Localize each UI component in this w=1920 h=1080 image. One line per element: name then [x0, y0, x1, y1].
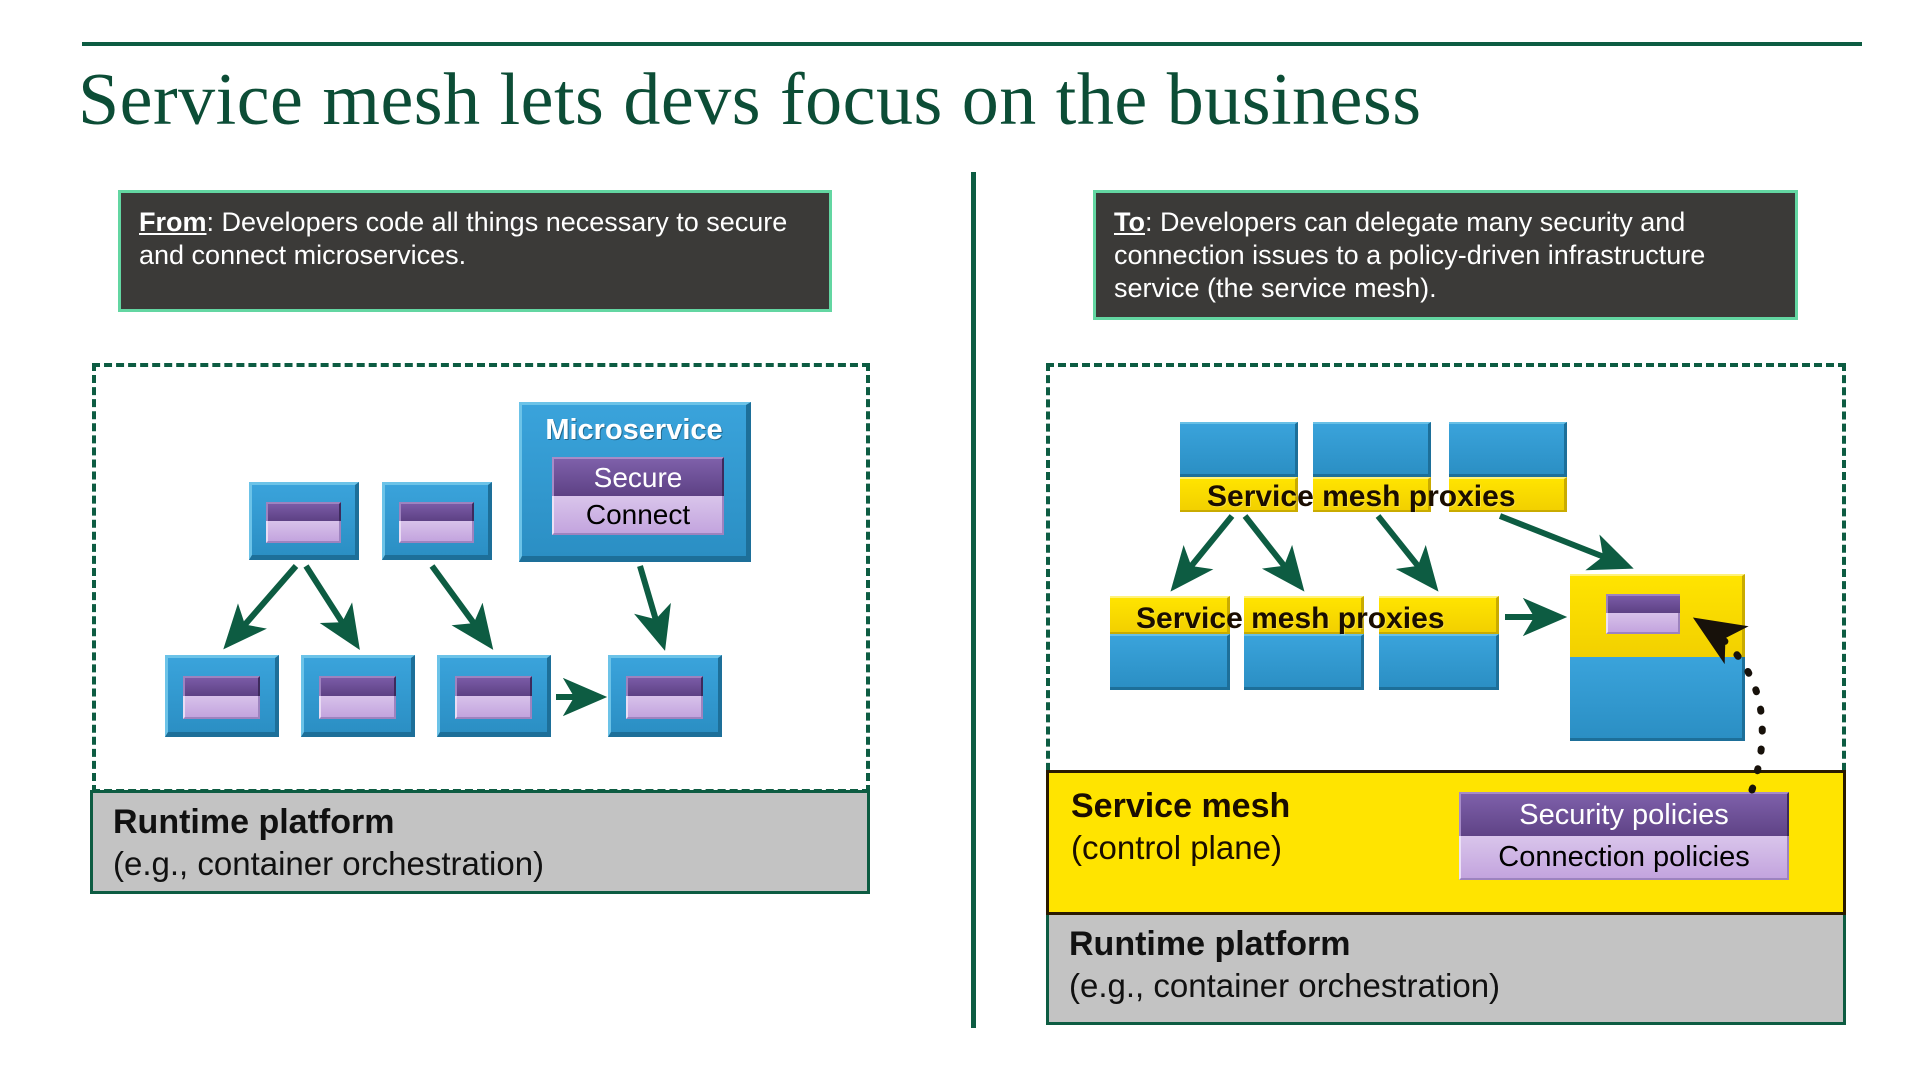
- callout-to-lead: To: [1114, 207, 1145, 237]
- service-node: [437, 655, 551, 737]
- header-rule: [82, 42, 1862, 46]
- callout-from-text: Developers code all things necessary to …: [139, 207, 787, 270]
- callout-to: To: Developers can delegate many securit…: [1093, 190, 1798, 320]
- service-node: [165, 655, 279, 737]
- connect-bar: [455, 696, 532, 719]
- proxy-blue-body: [1180, 422, 1298, 477]
- secure-bar: [319, 676, 396, 696]
- highlight-blue-body: [1570, 657, 1745, 741]
- secure-bar: [1606, 594, 1680, 613]
- connect-bar: [626, 696, 703, 719]
- secure-bar: [183, 676, 260, 696]
- connect-bar: [183, 696, 260, 719]
- microservice-title: Microservice: [522, 414, 746, 447]
- callout-from-colon: :: [207, 207, 215, 237]
- proxy-blue-body: [1449, 422, 1567, 477]
- proxy-blue-body: [1379, 634, 1499, 690]
- connect-bar: [399, 521, 473, 543]
- proxy-label-bottom: Service mesh proxies: [1136, 602, 1445, 636]
- service-node: [249, 482, 359, 560]
- microservice-connect-band: Connect: [552, 496, 724, 535]
- secure-bar: [626, 676, 703, 696]
- microservice-box: Microservice Secure Connect: [519, 402, 751, 562]
- secure-bar: [266, 502, 340, 521]
- runtime-subtitle: (e.g., container orchestration): [1069, 967, 1500, 1005]
- runtime-platform-right: Runtime platform (e.g., container orches…: [1046, 915, 1846, 1025]
- proxy-blue-body: [1244, 634, 1364, 690]
- security-policies-chip: Security policies: [1459, 792, 1789, 836]
- callout-from: From: Developers code all things necessa…: [118, 190, 832, 312]
- runtime-subtitle: (e.g., container orchestration): [113, 845, 544, 883]
- proxy-blue-body: [1110, 634, 1230, 690]
- slide-canvas: Service mesh lets devs focus on the busi…: [0, 0, 1920, 1080]
- microservice-secure-band: Secure: [552, 457, 724, 496]
- service-node: [608, 655, 722, 737]
- connect-bar: [266, 521, 340, 543]
- runtime-title: Runtime platform: [113, 803, 394, 842]
- panel-divider: [971, 172, 976, 1028]
- callout-to-colon: :: [1145, 207, 1153, 237]
- secure-bar: [455, 676, 532, 696]
- service-node: [301, 655, 415, 737]
- connect-bar: [1606, 613, 1680, 634]
- proxy-label-top: Service mesh proxies: [1207, 480, 1516, 514]
- connect-bar: [319, 696, 396, 719]
- service-node: [382, 482, 492, 560]
- callout-from-lead: From: [139, 207, 207, 237]
- highlighted-proxy-node: [1570, 574, 1745, 741]
- page-title: Service mesh lets devs focus on the busi…: [78, 62, 1778, 140]
- runtime-platform-left: Runtime platform (e.g., container orches…: [90, 790, 870, 894]
- secure-bar: [399, 502, 473, 521]
- service-mesh-subtitle: (control plane): [1071, 829, 1282, 867]
- service-mesh-control-plane: Service mesh (control plane) Security po…: [1046, 770, 1846, 915]
- connection-policies-chip: Connection policies: [1459, 836, 1789, 880]
- proxy-blue-body: [1313, 422, 1431, 477]
- runtime-title: Runtime platform: [1069, 925, 1350, 964]
- callout-to-text: Developers can delegate many security an…: [1114, 207, 1705, 303]
- service-mesh-title: Service mesh: [1071, 787, 1290, 826]
